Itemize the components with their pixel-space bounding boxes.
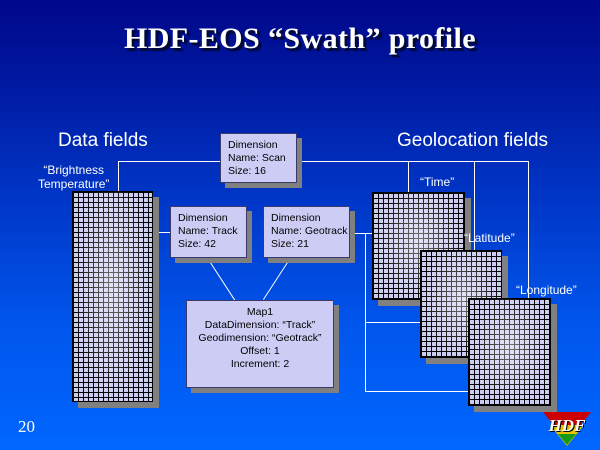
connector-scan-to-time-drop [408, 161, 409, 193]
field-label-longitude: “Longitude” [516, 283, 577, 297]
connector-scan-to-brightness-drop [118, 161, 119, 192]
field-label-line-2: Temperature” [38, 177, 109, 191]
field-label-brightness-temperature: “Brightness Temperature” [38, 163, 109, 191]
dimension-box-geotrack[interactable]: Dimension Name: Geotrack Size: 21 [263, 206, 350, 258]
dimension-box-name: Name: Track [178, 225, 239, 238]
array-grid-surface [468, 298, 551, 406]
slide-number: 20 [18, 417, 35, 437]
map-box-increment: Increment: 2 [191, 358, 329, 371]
dimension-box-size: Size: 21 [271, 238, 342, 251]
dimension-box-title: Dimension [271, 212, 342, 225]
box-surface: Dimension Name: Scan Size: 16 [220, 133, 297, 183]
page-title: HDF-EOS “Swath” profile [0, 22, 600, 56]
map-box-map1[interactable]: Map1 DataDimension: “Track” Geodimension… [186, 300, 334, 388]
connector-scan-to-longitude-drop [528, 161, 529, 299]
connector-track-to-map1 [207, 258, 235, 300]
dimension-box-scan[interactable]: Dimension Name: Scan Size: 16 [220, 133, 297, 183]
connector-scan-right-bus [297, 161, 529, 162]
dimension-box-size: Size: 16 [228, 165, 289, 178]
field-label-latitude: “Latitude” [464, 231, 515, 245]
box-surface: Dimension Name: Track Size: 42 [170, 206, 247, 258]
field-label-line-1: “Brightness [38, 163, 109, 177]
dimension-box-title: Dimension [228, 139, 289, 152]
box-surface: Dimension Name: Geotrack Size: 21 [263, 206, 350, 258]
hdf-logo-icon: HDF [543, 408, 591, 444]
dimension-box-name: Name: Geotrack [271, 225, 342, 238]
map-box-offset: Offset: 1 [191, 345, 329, 358]
map-box-data-dimension: DataDimension: “Track” [191, 319, 329, 332]
slide-canvas: HDF-EOS “Swath” profile Data fields Geol… [0, 0, 600, 450]
box-surface: Map1 DataDimension: “Track” Geodimension… [186, 300, 334, 388]
dimension-box-title: Dimension [178, 212, 239, 225]
dimension-box-track[interactable]: Dimension Name: Track Size: 42 [170, 206, 247, 258]
connector-geotrack-to-map1 [263, 257, 291, 299]
geolocation-fields-header: Geolocation fields [397, 130, 548, 152]
array-grid-longitude[interactable] [468, 298, 551, 406]
field-label-time: “Time” [420, 175, 454, 189]
data-fields-header: Data fields [58, 130, 148, 152]
connector-geotrack-branch-latitude [365, 322, 420, 323]
array-grid-brightness-temperature[interactable] [72, 191, 153, 402]
map-box-geo-dimension: Geodimension: “Geotrack” [191, 332, 329, 345]
dimension-box-name: Name: Scan [228, 152, 289, 165]
dimension-box-size: Size: 42 [178, 238, 239, 251]
logo-wordmark: HDF [543, 416, 591, 436]
array-grid-surface [72, 191, 153, 402]
connector-scan-left-bus [118, 161, 221, 162]
connector-geotrack-vertical-bus [365, 233, 366, 391]
map-box-title: Map1 [191, 306, 329, 319]
connector-geotrack-branch-longitude [365, 391, 469, 392]
